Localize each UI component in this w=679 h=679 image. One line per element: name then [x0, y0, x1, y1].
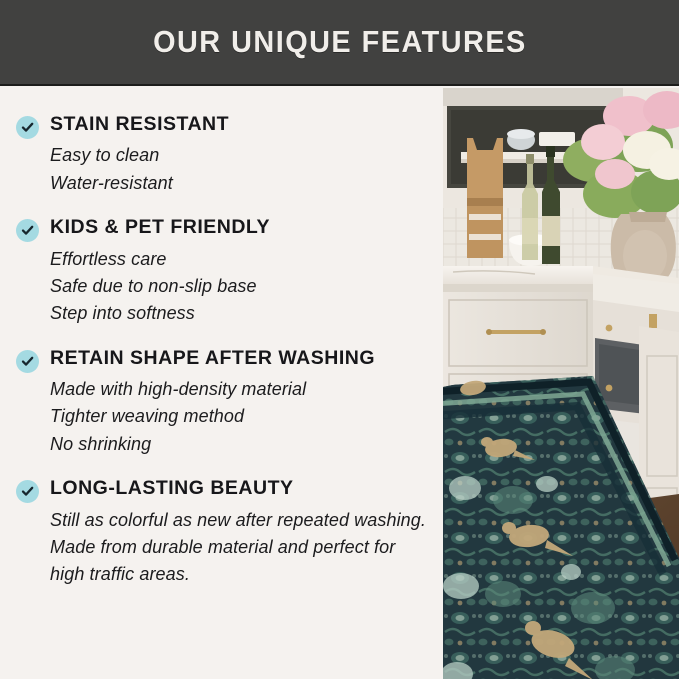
feature-line: Effortless care [50, 246, 270, 273]
feature-item-long-lasting-beauty: LONG-LASTING BEAUTY Still as colorful as… [16, 478, 433, 589]
check-circle-icon [16, 219, 39, 242]
feature-item-retain-shape: RETAIN SHAPE AFTER WASHING Made with hig… [16, 348, 433, 459]
feature-line: Still as colorful as new after repeated … [50, 507, 433, 589]
feature-body: LONG-LASTING BEAUTY Still as colorful as… [50, 478, 433, 589]
feature-item-kids-pet-friendly: KIDS & PET FRIENDLY Effortless care Safe… [16, 217, 433, 328]
feature-title: STAIN RESISTANT [50, 114, 229, 135]
feature-line: No shrinking [50, 431, 375, 458]
feature-title: KIDS & PET FRIENDLY [50, 217, 270, 238]
feature-body: KIDS & PET FRIENDLY Effortless care Safe… [50, 217, 270, 328]
kitchen-scene-illustration [443, 88, 679, 679]
header-banner: OUR UNIQUE FEATURES [0, 0, 679, 86]
feature-line: Made with high-density material [50, 376, 375, 403]
feature-item-stain-resistant: STAIN RESISTANT Easy to clean Water-resi… [16, 114, 433, 197]
feature-line: Water-resistant [50, 170, 229, 197]
page-title: OUR UNIQUE FEATURES [153, 24, 527, 60]
check-circle-icon [16, 480, 39, 503]
features-panel: STAIN RESISTANT Easy to clean Water-resi… [0, 88, 443, 679]
feature-line: Step into softness [50, 300, 270, 327]
check-circle-icon [16, 116, 39, 139]
kitchen-runner-rug-photo [443, 88, 679, 679]
feature-body: RETAIN SHAPE AFTER WASHING Made with hig… [50, 348, 375, 459]
feature-line: Easy to clean [50, 142, 229, 169]
feature-line: Tighter weaving method [50, 403, 375, 430]
feature-title: RETAIN SHAPE AFTER WASHING [50, 348, 375, 369]
feature-line: Safe due to non-slip base [50, 273, 270, 300]
feature-body: STAIN RESISTANT Easy to clean Water-resi… [50, 114, 229, 197]
feature-title: LONG-LASTING BEAUTY [50, 478, 433, 499]
check-circle-icon [16, 350, 39, 373]
feature-infographic-page: OUR UNIQUE FEATURES STAIN RESISTANT Easy… [0, 0, 679, 679]
